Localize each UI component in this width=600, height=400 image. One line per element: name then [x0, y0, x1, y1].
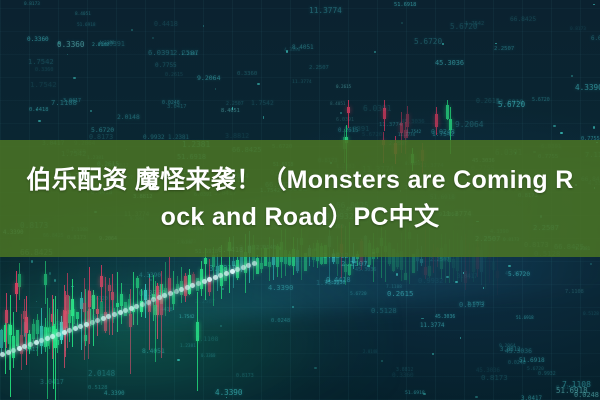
- chart-tick: [553, 125, 556, 127]
- chart-tick: [495, 43, 497, 44]
- candlestick: [435, 107, 438, 135]
- banner-title-line-2: ock and Road）PC中文: [161, 203, 440, 231]
- chart-tick: [263, 116, 264, 119]
- chart-tick: [73, 77, 76, 79]
- chart-tick: [340, 112, 342, 114]
- chart-tick: [423, 393, 426, 395]
- banner-title: 伯乐配资 魔怪来袭！（Monsters are Coming R ock and…: [0, 162, 600, 236]
- banner-image: 4.33905.67203.881251.69180.77552.25070.7…: [0, 0, 600, 400]
- chart-tick: [232, 107, 233, 110]
- chart-tick: [203, 25, 204, 27]
- chart-tick: [36, 109, 37, 111]
- chart-tick: [90, 110, 92, 112]
- chart-tick: [508, 265, 511, 267]
- chart-tick: [560, 132, 563, 134]
- chart-tick: [455, 281, 458, 283]
- candlestick: [406, 106, 409, 138]
- chart-tick: [257, 83, 260, 85]
- chart-tick: [131, 29, 133, 31]
- chart-tick: [215, 88, 216, 90]
- chart-tick: [38, 120, 41, 122]
- chart-tick: [152, 37, 154, 39]
- chart-tick: [421, 318, 424, 319]
- chart-tick: [401, 22, 403, 24]
- chart-tick: [286, 50, 288, 53]
- chart-tick: [593, 4, 595, 5]
- chart-tick: [58, 42, 60, 44]
- banner-title-line-1: 伯乐配资 魔怪来袭！（Monsters are Coming R: [26, 166, 573, 194]
- chart-tick: [475, 396, 478, 398]
- chart-tick: [396, 273, 398, 276]
- chart-tick: [442, 43, 444, 45]
- chart-tick: [593, 126, 595, 129]
- chart-tick: [374, 51, 376, 53]
- chart-tick: [460, 337, 461, 339]
- title-band: 伯乐配资 魔怪来袭！（Monsters are Coming R ock and…: [0, 140, 600, 257]
- chart-bloom-haze: [0, 232, 396, 400]
- chart-tick: [571, 75, 573, 77]
- chart-tick: [590, 263, 592, 265]
- chart-tick: [67, 54, 68, 55]
- chart-tick: [432, 353, 434, 355]
- candlestick: [383, 100, 386, 130]
